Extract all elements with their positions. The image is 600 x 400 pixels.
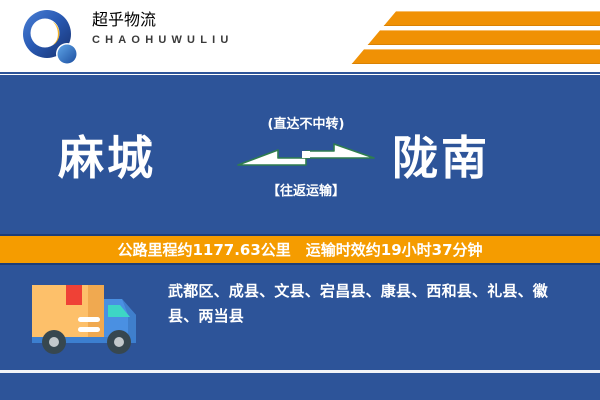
banner-body: 麻城 (直达不中转) 【往返运输】 陇南 公路里程约1 [0,75,600,400]
bottom-divider [0,370,600,373]
route-info-text: 公路里程约1177.63公里 运输时效约19小时37分钟 [117,239,482,260]
header-stripe-1 [384,11,600,26]
origin-city: 麻城 [58,128,156,188]
coverage-areas-text: 武都区、成县、文县、宕昌县、康县、西和县、礼县、徽县、两当县 [168,279,574,329]
route-row: 麻城 (直达不中转) 【往返运输】 陇南 [0,102,600,222]
banner-header: 超乎物流 CHAOHUWULIU [0,0,600,74]
coverage-row: 武都区、成县、文县、宕昌县、康县、西和县、礼县、徽县、两当县 [0,273,600,365]
logistics-route-banner: 超乎物流 CHAOHUWULIU 麻城 (直达不中转) [0,0,600,400]
route-note-direct: (直达不中转) [236,116,376,134]
destination-city: 陇南 [392,128,490,188]
brand-name-cn: 超乎物流 [92,6,277,30]
brand-block: 超乎物流 CHAOHUWULIU [92,6,277,48]
bidirectional-arrow-icon [236,139,376,179]
header-stripe-3 [352,49,600,64]
delivery-truck-icon [26,279,154,357]
route-note-roundtrip: 【往返运输】 [236,183,376,201]
route-middle: (直达不中转) 【往返运输】 [236,116,376,220]
header-stripe-2 [368,30,600,45]
header-divider [0,72,600,74]
route-info-bar: 公路里程约1177.63公里 运输时效约19小时37分钟 [0,234,600,265]
brand-name-en: CHAOHUWULIU [92,32,277,48]
circle-crescent-logo-icon [22,9,80,67]
